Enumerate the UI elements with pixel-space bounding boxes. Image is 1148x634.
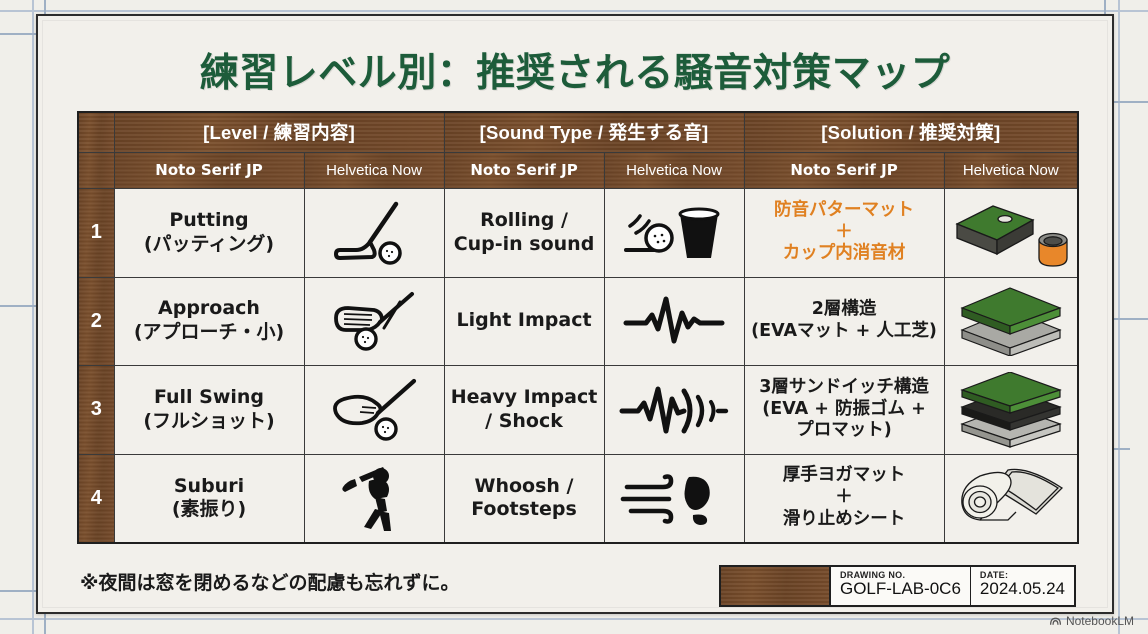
solution-line-1: 3層サンドイッチ構造 [751, 377, 938, 399]
notebooklm-logo-icon [1049, 615, 1062, 628]
level-name-jp: (パッティング) [121, 233, 298, 257]
level-name-en: Putting [121, 209, 298, 233]
two-layer-mat-icon [944, 277, 1078, 365]
title-block: DRAWING NO. GOLF-LAB-0C6 DATE: 2024.05.2… [719, 565, 1076, 607]
table-row: 4 Suburi (素振り) [78, 454, 1078, 543]
solution-line-3: プロマット) [751, 420, 938, 442]
sub-header-sound-sans: Helvetica Now [604, 152, 744, 188]
grid-line-vertical [1118, 0, 1120, 634]
iron-club-icon [304, 277, 444, 365]
ball-and-cup-icon [604, 188, 744, 277]
drawing-no-field: DRAWING NO. GOLF-LAB-0C6 [831, 567, 971, 605]
solution-line-3: 滑り止めシート [751, 509, 938, 531]
waveform-with-soundwaves-icon [604, 365, 744, 454]
group-header-level: [Level / 練習内容] [114, 112, 444, 152]
level-name-cell: Approach (アプローチ・小) [114, 277, 304, 365]
table-row: 3 Full Swing (フルショット) [78, 365, 1078, 454]
solution-text-cell: 2層構造 (EVAマット + 人工芝) [744, 277, 944, 365]
sound-type-line1: Light Impact [451, 309, 598, 333]
putting-mat-and-cup-icon [944, 188, 1078, 277]
level-name-en: Approach [121, 297, 298, 321]
noise-countermeasure-table: [Level / 練習内容] [Sound Type / 発生する音] [Sol… [77, 111, 1077, 544]
date-field: DATE: 2024.05.24 [971, 567, 1074, 605]
notebooklm-label: NotebookLM [1066, 614, 1134, 628]
sub-header-level-serif: Noto Serif JP [114, 152, 304, 188]
solution-line-2: (EVA + 防振ゴム + [751, 399, 938, 421]
level-name-cell: Suburi (素振り) [114, 454, 304, 543]
level-number: 1 [78, 188, 114, 277]
group-header-solution: [Solution / 推奨対策] [744, 112, 1078, 152]
level-name-jp: (素振り) [121, 498, 298, 522]
level-number: 4 [78, 454, 114, 543]
corner-cell-2 [78, 152, 114, 188]
golfer-swing-icon [304, 454, 444, 543]
level-name-cell: Full Swing (フルショット) [114, 365, 304, 454]
sound-type-line2: Cup-in sound [451, 233, 598, 257]
sound-type-cell: Whoosh / Footsteps [444, 454, 604, 543]
solution-line-2: (EVAマット + 人工芝) [751, 321, 938, 343]
putter-club-icon [304, 188, 444, 277]
solution-text-cell: 3層サンドイッチ構造 (EVA + 防振ゴム + プロマット) [744, 365, 944, 454]
sound-type-line2: / Shock [451, 410, 598, 434]
level-name-cell: Putting (パッティング) [114, 188, 304, 277]
solution-line-3: カップ内消音材 [751, 243, 938, 265]
three-layer-mat-icon [944, 365, 1078, 454]
solution-line-2: ＋ [751, 222, 938, 244]
footer-note: ※夜間は窓を閉めるなどの配慮も忘れずに。 [80, 568, 459, 595]
table-row: 1 Putting (パッティング) [78, 188, 1078, 277]
sound-type-line1: Heavy Impact [451, 386, 598, 410]
sound-type-line1: Whoosh / [451, 475, 598, 499]
level-name-en: Suburi [121, 475, 298, 499]
solution-line-1: 防音パターマット [751, 200, 938, 222]
drawing-no-value: GOLF-LAB-0C6 [840, 579, 961, 599]
table-row: 2 Approach (アプローチ・小) [78, 277, 1078, 365]
solution-text-cell: 防音パターマット ＋ カップ内消音材 [744, 188, 944, 277]
solution-line-1: 厚手ヨガマット [751, 465, 938, 487]
solution-line-1: 2層構造 [751, 299, 938, 321]
grid-line-horizontal [0, 10, 1148, 12]
date-value: 2024.05.24 [980, 579, 1065, 599]
group-header-sound-type: [Sound Type / 発生する音] [444, 112, 744, 152]
level-number: 2 [78, 277, 114, 365]
grid-line-vertical [32, 0, 34, 634]
sub-header-level-sans: Helvetica Now [304, 152, 444, 188]
drawing-sheet: 練習レベル別：推奨される騒音対策マップ [Level / 練習内容] [Soun… [36, 14, 1114, 614]
notebooklm-watermark: NotebookLM [1049, 614, 1134, 628]
sound-type-cell: Heavy Impact / Shock [444, 365, 604, 454]
sub-header-solution-sans: Helvetica Now [944, 152, 1078, 188]
sound-type-cell: Rolling / Cup-in sound [444, 188, 604, 277]
level-name-jp: (アプローチ・小) [121, 321, 298, 345]
sub-header-sound-serif: Noto Serif JP [444, 152, 604, 188]
rolled-yoga-mat-icon [944, 454, 1078, 543]
page-title: 練習レベル別：推奨される騒音対策マップ [38, 42, 1112, 98]
table-group-header-row: [Level / 練習内容] [Sound Type / 発生する音] [Sol… [78, 112, 1078, 152]
level-number: 3 [78, 365, 114, 454]
driver-club-icon [304, 365, 444, 454]
sub-header-solution-serif: Noto Serif JP [744, 152, 944, 188]
level-name-en: Full Swing [121, 386, 298, 410]
level-name-jp: (フルショット) [121, 410, 298, 434]
corner-cell [78, 112, 114, 152]
sound-type-cell: Light Impact [444, 277, 604, 365]
wind-and-footprint-icon [604, 454, 744, 543]
waveform-icon [604, 277, 744, 365]
solution-text-cell: 厚手ヨガマット ＋ 滑り止めシート [744, 454, 944, 543]
wood-swatch [721, 567, 831, 605]
solution-line-2: ＋ [751, 487, 938, 509]
grid-line-horizontal [0, 618, 1148, 620]
table-sub-header-row: Noto Serif JP Helvetica Now Noto Serif J… [78, 152, 1078, 188]
sound-type-line1: Rolling / [451, 209, 598, 233]
sound-type-line2: Footsteps [451, 498, 598, 522]
